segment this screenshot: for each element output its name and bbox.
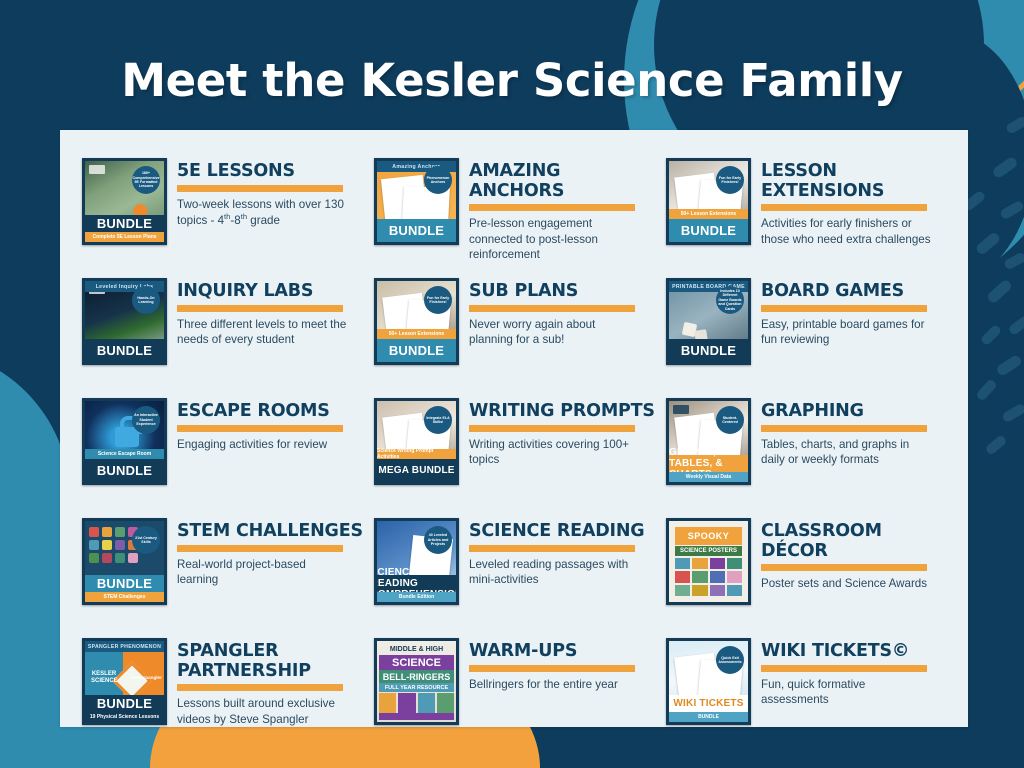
spooky-title-label: SPOOKY [675, 527, 742, 545]
thumbnail-bundle-label: BUNDLE [669, 339, 748, 362]
dash-mark-decoration [1005, 115, 1024, 135]
product-description: Tables, charts, and graphs in daily or w… [761, 437, 933, 468]
product-card[interactable]: Amazing AnchorsPhenomenon AnchorsBUNDLEA… [374, 158, 660, 270]
thumbnail-badge: Hands-On Learning [132, 286, 160, 314]
orange-underline-rule [469, 204, 635, 211]
thumbnail-sub-label: Science Escape Room [85, 449, 164, 459]
product-description: Fun, quick formative assessments [761, 677, 933, 708]
product-thumbnail[interactable]: 40 Leveled Articles and ProjectsSCIENCE … [374, 518, 459, 605]
product-description: Activities for early finishers or those … [761, 216, 933, 247]
product-card[interactable]: 40 Leveled Articles and ProjectsSCIENCE … [374, 518, 660, 630]
product-info: SUB PLANSNever worry again about plannin… [469, 278, 660, 347]
product-thumbnail[interactable]: Student-CenteredGRAPHS, TABLES, & CHARTS… [666, 398, 751, 485]
warmups-top-label: MIDDLE & HIGH [379, 644, 454, 655]
product-title: SPANGLER PARTNERSHIP [177, 642, 368, 681]
product-card[interactable]: KESLER SCIENCEstevespanglerSPANGLER PHEN… [82, 638, 368, 750]
product-description: Lessons built around exclusive videos by… [177, 696, 349, 727]
thumbnail-bundle-label: MEGA BUNDLE [377, 459, 456, 482]
dash-mark-decoration [975, 378, 998, 402]
kesler-logo-watermark [673, 405, 689, 414]
thumbnail-footnote-label: Bundle Edition [377, 592, 456, 602]
orange-underline-rule [177, 425, 343, 432]
product-info: 5E LESSONSTwo-week lessons with over 130… [177, 158, 368, 228]
product-card[interactable]: MIDDLE & HIGHSCIENCEBELL-RINGERSFULL YEA… [374, 638, 660, 750]
thumbnail-footnote-label: STEM Challenges [85, 592, 164, 602]
product-thumbnail[interactable]: Quick Exit AssessmentsWIKI TICKETSBUNDLE [666, 638, 751, 725]
orange-underline-rule [761, 305, 927, 312]
product-thumbnail[interactable]: PRINTABLE BOARD GAMEIncludes 10 Differen… [666, 278, 751, 365]
product-title: WRITING PROMPTS [469, 402, 660, 422]
product-card[interactable]: Fun for Early Finishers!50+ Lesson Exten… [666, 158, 952, 270]
product-description: Engaging activities for review [177, 437, 349, 452]
thumbnail-bundle-label: BUNDLE [377, 339, 456, 362]
thumbnail-bundle-label: BUNDLE [85, 695, 164, 712]
product-title: LESSON EXTENSIONS [761, 162, 952, 201]
page-title: Meet the Kesler Science Family [0, 54, 1024, 107]
product-description: Writing activities covering 100+ topics [469, 437, 641, 468]
thumbnail-footnote-label: Weekly Visual Data [669, 472, 748, 482]
thumbnail-footnote-label: Complete 5E Lesson Plans [85, 232, 164, 242]
thumbnail-badge: Fun for Early Finishers! [716, 166, 744, 194]
warmups-footer-bar [379, 713, 454, 720]
product-card[interactable]: Quick Exit AssessmentsWIKI TICKETSBUNDLE… [666, 638, 952, 750]
product-thumbnail[interactable]: SPOOKYSCIENCE POSTERS [666, 518, 751, 605]
product-title: GRAPHING [761, 402, 952, 422]
product-card[interactable]: SPOOKYSCIENCE POSTERSCLASSROOM DÉCORPost… [666, 518, 952, 630]
dash-mark-decoration [975, 231, 1002, 256]
product-description: Easy, printable board games for fun revi… [761, 317, 933, 348]
dash-mark-decoration [984, 434, 1007, 456]
kesler-logo-watermark [89, 165, 105, 174]
science-posters-label: SCIENCE POSTERS [675, 546, 742, 556]
thumbnail-badge: 40 Leveled Articles and Projects [424, 526, 452, 554]
product-thumbnail[interactable]: 21st Century SkillsBUNDLESTEM Challenges [82, 518, 167, 605]
product-info: CLASSROOM DÉCORPoster sets and Science A… [761, 518, 952, 592]
content-panel: 180+ Comprehensive 5E Formatted LessonsB… [60, 130, 968, 727]
thumbnail-bundle-label: BUNDLE [377, 219, 456, 242]
kesler-science-logo: KESLER SCIENCE [91, 671, 117, 684]
warmups-fullyear-label: FULL YEAR RESOURCE [379, 683, 454, 692]
product-title: SCIENCE READING [469, 522, 660, 542]
orange-underline-rule [469, 665, 635, 672]
product-info: WARM-UPSBellringers for the entire year [469, 638, 660, 692]
orange-underline-rule [761, 564, 927, 571]
thumbnail-badge: Fun for Early Finishers! [424, 286, 452, 314]
warmups-science-label: SCIENCE [379, 655, 454, 670]
thumbnail-bundle-label: BUNDLE [669, 219, 748, 242]
dash-mark-decoration [991, 156, 1019, 180]
thumbnail-bundle-label: BUNDLE [85, 459, 164, 482]
thumbnail-bundle-label: GRAPHS, TABLES, & CHARTS [669, 455, 748, 472]
product-card[interactable]: PRINTABLE BOARD GAMEIncludes 10 Differen… [666, 278, 952, 390]
orange-underline-rule [469, 305, 635, 312]
product-grid: 180+ Comprehensive 5E Formatted LessonsB… [60, 130, 968, 727]
orange-underline-rule [177, 185, 343, 192]
dash-mark-decoration [980, 324, 1003, 347]
product-info: AMAZING ANCHORSPre-lesson engagement con… [469, 158, 660, 262]
dash-mark-decoration [1001, 403, 1024, 424]
product-info: LESSON EXTENSIONSActivities for early fi… [761, 158, 952, 247]
product-info: GRAPHINGTables, charts, and graphs in da… [761, 398, 952, 467]
thumbnail-sub-label: Science Writing Prompt Activities [377, 449, 456, 459]
orange-underline-rule [177, 305, 343, 312]
product-info: ESCAPE ROOMSEngaging activities for revi… [177, 398, 368, 452]
product-thumbnail[interactable]: KESLER SCIENCEstevespanglerSPANGLER PHEN… [82, 638, 167, 725]
thumbnail-top-label: SPANGLER PHENOMENON [85, 641, 164, 652]
product-description: Real-world project-based learning [177, 557, 349, 588]
thumbnail-badge: Student-Centered [716, 406, 744, 434]
product-thumbnail[interactable]: Fun for Early Finishers!50+ Lesson Exten… [666, 158, 751, 245]
orange-underline-rule [761, 425, 927, 432]
product-card[interactable]: Leveled Inquiry LabsHands-On LearningBUN… [82, 278, 368, 390]
product-title: WIKI TICKETS© [761, 642, 952, 662]
product-info: INQUIRY LABSThree different levels to me… [177, 278, 368, 347]
product-card[interactable]: 180+ Comprehensive 5E Formatted LessonsB… [82, 158, 368, 270]
product-thumbnail[interactable]: Fun for Early Finishers!50+ Lesson Exten… [374, 278, 459, 365]
warmups-bellringers-label: BELL-RINGERS [379, 670, 454, 683]
dash-mark-decoration [995, 354, 1023, 377]
orange-underline-rule [177, 545, 343, 552]
product-info: SCIENCE READINGLeveled reading passages … [469, 518, 660, 587]
thumbnail-badge: 180+ Comprehensive 5E Formatted Lessons [132, 166, 160, 194]
thumbnail-badge: Quick Exit Assessments [716, 646, 744, 674]
product-info: BOARD GAMESEasy, printable board games f… [761, 278, 952, 347]
orange-underline-rule [469, 545, 635, 552]
product-card[interactable]: Student-CenteredGRAPHS, TABLES, & CHARTS… [666, 398, 952, 510]
product-thumbnail[interactable]: Leveled Inquiry LabsHands-On LearningBUN… [82, 278, 167, 365]
product-description: Three different levels to meet the needs… [177, 317, 349, 348]
steve-spangler-logo: stevespangler [131, 675, 161, 680]
dash-mark-decoration [1003, 251, 1024, 270]
product-title: SUB PLANS [469, 282, 660, 302]
product-description: Poster sets and Science Awards [761, 576, 933, 591]
product-thumbnail[interactable]: 180+ Comprehensive 5E Formatted LessonsB… [82, 158, 167, 245]
dash-mark-decoration [999, 200, 1024, 221]
product-description: Never worry again about planning for a s… [469, 317, 641, 348]
product-description: Pre-lesson engagement connected to post-… [469, 216, 641, 262]
orange-underline-rule [761, 665, 927, 672]
product-description: Bellringers for the entire year [469, 677, 641, 692]
thumbnail-badge: Integrate ELA Skills! [424, 406, 452, 434]
thumbnail-footnote-label: BUNDLE [669, 712, 748, 722]
product-card[interactable]: 21st Century SkillsBUNDLESTEM Challenges… [82, 518, 368, 630]
thumbnail-bundle-label: WIKI TICKETS [669, 695, 748, 712]
thumbnail-footnote-label: 19 Physical Science Lessons [85, 712, 164, 722]
product-title: WARM-UPS [469, 642, 660, 662]
product-description: Leveled reading passages with mini-activ… [469, 557, 641, 588]
product-card[interactable]: Integrate ELA Skills!Science Writing Pro… [374, 398, 660, 510]
product-title: AMAZING ANCHORS [469, 162, 660, 201]
product-title: ESCAPE ROOMS [177, 402, 368, 422]
dash-mark-decoration [986, 278, 1013, 304]
product-info: WIKI TICKETS©Fun, quick formative assess… [761, 638, 952, 707]
thumbnail-sub-label: 50+ Lesson Extensions [377, 329, 456, 339]
thumbnail-bundle-label: SCIENCE READING COMPREHENSION [377, 575, 456, 592]
product-info: SPANGLER PARTNERSHIPLessons built around… [177, 638, 368, 727]
product-thumbnail[interactable]: An Interactive Student ExperienceScience… [82, 398, 167, 485]
thumbnail-badge: An Interactive Student Experience [132, 406, 160, 434]
thumbnail-badge: Includes 10 Different Game Boards and Qu… [716, 286, 744, 314]
product-title: STEM CHALLENGES [177, 522, 368, 542]
thumbnail-bundle-label: BUNDLE [85, 215, 164, 232]
thumbnail-sub-label: 50+ Lesson Extensions [669, 209, 748, 219]
thumbnail-bundle-label: BUNDLE [85, 339, 164, 362]
product-title: INQUIRY LABS [177, 282, 368, 302]
product-title: 5E LESSONS [177, 162, 368, 182]
orange-underline-rule [469, 425, 635, 432]
product-thumbnail[interactable]: Amazing AnchorsPhenomenon AnchorsBUNDLE [374, 158, 459, 245]
slide-canvas: Meet the Kesler Science Family 180+ Comp… [0, 0, 1024, 768]
product-info: WRITING PROMPTSWriting activities coveri… [469, 398, 660, 467]
orange-underline-rule [177, 684, 343, 691]
product-info: STEM CHALLENGESReal-world project-based … [177, 518, 368, 587]
product-card[interactable]: An Interactive Student ExperienceScience… [82, 398, 368, 510]
product-title: CLASSROOM DÉCOR [761, 522, 952, 561]
warmups-preview-grid [379, 693, 454, 713]
product-card[interactable]: Fun for Early Finishers!50+ Lesson Exten… [374, 278, 660, 390]
product-thumbnail[interactable]: MIDDLE & HIGHSCIENCEBELL-RINGERSFULL YEA… [374, 638, 459, 725]
product-thumbnail[interactable]: Integrate ELA Skills!Science Writing Pro… [374, 398, 459, 485]
thumbnail-bundle-label: BUNDLE [85, 575, 164, 592]
thumbnail-badge: Phenomenon Anchors [424, 166, 452, 194]
thumbnail-badge: 21st Century Skills [132, 526, 160, 554]
orange-underline-rule [761, 204, 927, 211]
product-title: BOARD GAMES [761, 282, 952, 302]
poster-thumbnail-grid [675, 558, 742, 596]
product-description: Two-week lessons with over 130 topics - … [177, 197, 349, 229]
dash-mark-decoration [1007, 314, 1024, 336]
